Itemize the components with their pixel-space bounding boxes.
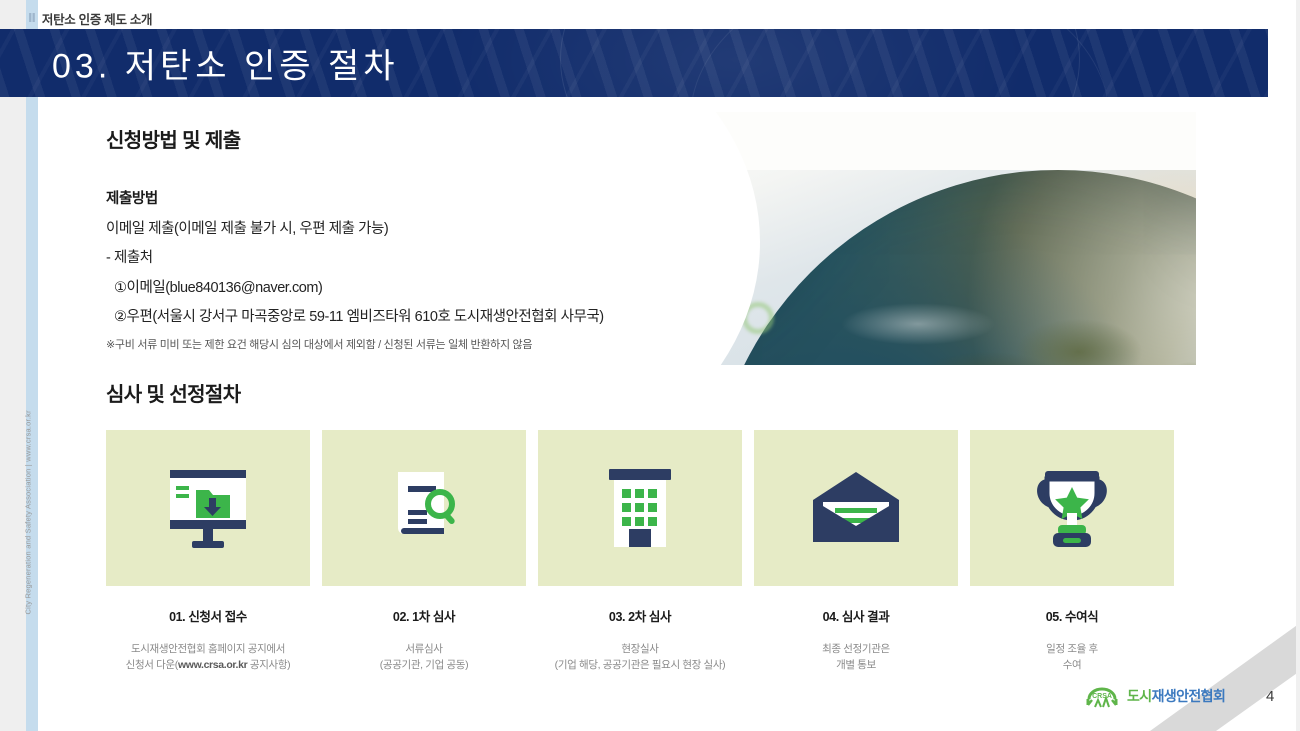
step-5-desc-line1: 일정 조율 후 [970,641,1174,657]
step-1-thumbnail [106,430,310,586]
submission-line-3-email: ①이메일(blue840136@naver.com) [114,276,322,297]
step-3-desc-line2: (기업 해당, 공공기관은 필요시 현장 실사) [538,657,742,673]
footer-logo-text-green: 도시 [1127,688,1152,704]
step-4-thumbnail [754,430,958,586]
earth-top-mask [690,112,1196,170]
right-edge-strip [1296,0,1300,731]
step-5-title: 05. 수여식 [970,606,1174,625]
step-5-desc-line2: 수여 [970,657,1174,673]
submission-line-2: - 제출처 [106,246,153,267]
step-1-desc-line1: 도시재생안전협회 홈페이지 공지에서 [106,641,310,657]
step-2-title: 02. 1차 심사 [322,606,526,625]
band-arc-decoration-secondary [690,29,1110,97]
breadcrumb-label: 저탄소 인증 제도 소개 [42,9,152,28]
corner-wedge-decoration-light [1216,671,1300,731]
step-1-desc-url: www.crsa.or.kr [178,659,247,671]
step-2-thumbnail [322,430,526,586]
step-4-title: 04. 심사 결과 [754,606,958,625]
process-step-5[interactable]: 05. 수여식 일정 조율 후 수여 [970,430,1174,675]
breadcrumb-marker-icon: Ⅱ [28,11,35,25]
step-1-desc-pre: 신청서 다운( [126,659,178,671]
breadcrumb: Ⅱ 저탄소 인증 제도 소개 [28,8,152,28]
process-step-2[interactable]: 02. 1차 심사 서류심사 (공공기관, 기업 공동) [322,430,526,675]
step-1-description: 도시재생안전협회 홈페이지 공지에서 신청서 다운(www.crsa.or.kr… [106,641,310,674]
slide-title-band: 03. 저탄소 인증 절차 [0,29,1268,97]
process-step-3[interactable]: 03. 2차 심사 현장실사 (기업 해당, 공공기관은 필요시 현장 실사) [538,430,742,675]
step-3-thumbnail [538,430,742,586]
svg-text:CRSA: CRSA [1092,693,1112,700]
step-3-desc-line1: 현장실사 [538,641,742,657]
step-5-description: 일정 조율 후 수여 [970,641,1174,674]
earth-photo [690,112,1196,365]
footer-logo-text: 도시재생안전협회 [1127,686,1225,706]
crsa-recycle-logo-icon: CRSA [1085,683,1119,709]
monitor-download-icon [160,466,256,550]
process-step-list: 01. 신청서 접수 도시재생안전협회 홈페이지 공지에서 신청서 다운(www… [106,430,1196,675]
left-gutter [0,0,26,731]
section-title-review: 심사 및 선정절차 [106,378,241,407]
submission-line-1: 이메일 제출(이메일 제출 불가 시, 우편 제출 가능) [106,217,388,238]
page-number: 4 [1266,688,1274,705]
left-blue-accent-bar [26,0,38,731]
step-2-desc-line2: (공공기관, 기업 공동) [322,657,526,673]
footer-logo: CRSA 도시재생안전협회 [1085,683,1225,709]
step-1-title: 01. 신청서 접수 [106,606,310,625]
step-4-desc-line1: 최종 선정기관은 [754,641,958,657]
submission-line-4-post: ②우편(서울시 강서구 마곡중앙로 59-11 엠비즈타워 610호 도시재생안… [114,305,604,326]
trophy-star-icon [1027,463,1117,553]
step-1-desc-post: 공지사항) [247,659,290,671]
step-2-desc-line1: 서류심사 [322,641,526,657]
step-5-thumbnail [970,430,1174,586]
vertical-credit-text: City Regeneration and Safety Association… [24,435,33,615]
process-step-1[interactable]: 01. 신청서 접수 도시재생안전협회 홈페이지 공지에서 신청서 다운(www… [106,430,310,675]
open-envelope-icon [809,470,903,546]
submission-note: ※구비 서류 미비 또는 제한 요건 해당시 심의 대상에서 제외함 / 신청된… [106,336,532,352]
building-icon [601,465,679,551]
subheading-submission-method: 제출방법 [106,187,158,208]
document-search-icon [382,466,466,550]
section-title-application: 신청방법 및 제출 [106,124,241,153]
step-1-desc-line2: 신청서 다운(www.crsa.or.kr 공지사항) [106,657,310,673]
footer-logo-text-blue: 재생안전협회 [1152,688,1226,704]
step-4-description: 최종 선정기관은 개별 통보 [754,641,958,674]
step-3-description: 현장실사 (기업 해당, 공공기관은 필요시 현장 실사) [538,641,742,674]
slide-canvas: City Regeneration and Safety Association… [0,0,1300,731]
step-2-description: 서류심사 (공공기관, 기업 공동) [322,641,526,674]
step-4-desc-line2: 개별 통보 [754,657,958,673]
page-title: 03. 저탄소 인증 절차 [52,39,399,88]
step-3-title: 03. 2차 심사 [538,606,742,625]
process-step-4[interactable]: 04. 심사 결과 최종 선정기관은 개별 통보 [754,430,958,675]
